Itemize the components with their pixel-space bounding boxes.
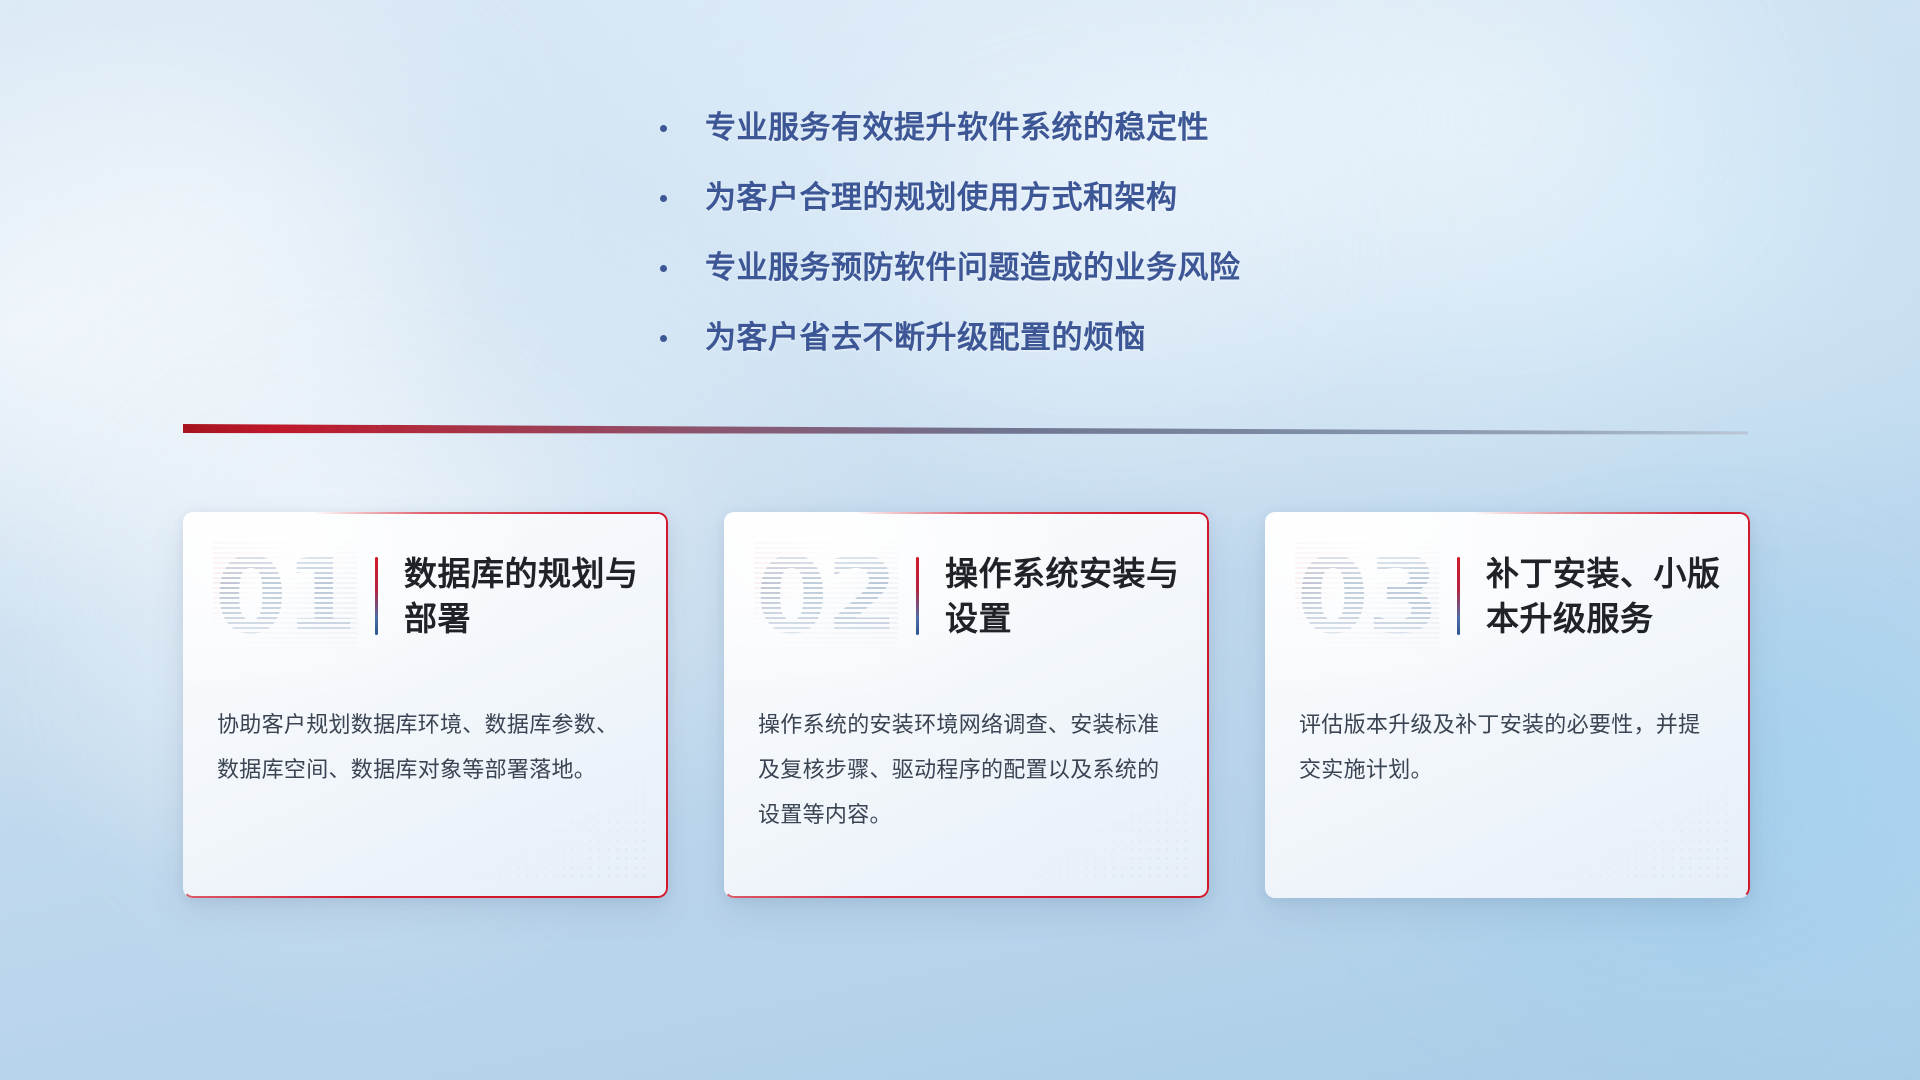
card-header: 01 数据库的规划与部署 bbox=[183, 512, 668, 680]
ghost-number: 01 bbox=[213, 542, 357, 650]
bullet-text: 为客户合理的规划使用方式和架构 bbox=[705, 178, 1420, 218]
bullet-dot-icon bbox=[660, 265, 667, 272]
bullet-list: 专业服务有效提升软件系统的稳定性 为客户合理的规划使用方式和架构 专业服务预防软… bbox=[660, 108, 1420, 358]
card-header: 03 补丁安装、小版本升级服务 bbox=[1265, 512, 1750, 680]
service-card-01[interactable]: 01 数据库的规划与部署 协助客户规划数据库环境、数据库参数、数据库空间、数据库… bbox=[183, 512, 668, 898]
list-item: 专业服务有效提升软件系统的稳定性 bbox=[660, 108, 1420, 148]
title-rule-divider bbox=[916, 557, 919, 635]
ghost-number-text: 02 bbox=[754, 542, 898, 650]
list-item: 为客户合理的规划使用方式和架构 bbox=[660, 178, 1420, 218]
ghost-number-text: 01 bbox=[213, 542, 357, 650]
bullet-dot-icon bbox=[660, 195, 667, 202]
card-body-text: 操作系统的安装环境网络调查、安装标准及复核步骤、驱动程序的配置以及系统的设置等内… bbox=[724, 680, 1209, 837]
bullet-text: 专业服务有效提升软件系统的稳定性 bbox=[705, 108, 1420, 148]
list-item: 为客户省去不断升级配置的烦恼 bbox=[660, 318, 1420, 358]
title-rule-divider bbox=[1457, 557, 1460, 635]
card-title: 补丁安装、小版本升级服务 bbox=[1486, 551, 1750, 641]
bullet-dot-icon bbox=[660, 335, 667, 342]
bullet-text: 专业服务预防软件问题造成的业务风险 bbox=[705, 248, 1420, 288]
service-card-02[interactable]: 02 操作系统安装与设置 操作系统的安装环境网络调查、安装标准及复核步骤、驱动程… bbox=[724, 512, 1209, 898]
ghost-number: 03 bbox=[1295, 542, 1439, 650]
bullet-text: 为客户省去不断升级配置的烦恼 bbox=[705, 318, 1420, 358]
card-body-text: 协助客户规划数据库环境、数据库参数、数据库空间、数据库对象等部署落地。 bbox=[183, 680, 668, 792]
bullet-dot-icon bbox=[660, 125, 667, 132]
divider bbox=[183, 422, 1748, 440]
card-body-text: 评估版本升级及补丁安装的必要性，并提交实施计划。 bbox=[1265, 680, 1750, 792]
divider-shape-icon bbox=[183, 422, 1748, 440]
card-title: 数据库的规划与部署 bbox=[404, 551, 668, 641]
ghost-number: 02 bbox=[754, 542, 898, 650]
list-item: 专业服务预防软件问题造成的业务风险 bbox=[660, 248, 1420, 288]
card-group: 01 数据库的规划与部署 协助客户规划数据库环境、数据库参数、数据库空间、数据库… bbox=[183, 512, 1750, 898]
slide-canvas: 专业服务有效提升软件系统的稳定性 为客户合理的规划使用方式和架构 专业服务预防软… bbox=[0, 0, 1920, 1080]
card-header: 02 操作系统安装与设置 bbox=[724, 512, 1209, 680]
service-card-03[interactable]: 03 补丁安装、小版本升级服务 评估版本升级及补丁安装的必要性，并提交实施计划。 bbox=[1265, 512, 1750, 898]
ghost-number-text: 03 bbox=[1295, 542, 1439, 650]
card-title: 操作系统安装与设置 bbox=[945, 551, 1209, 641]
title-rule-divider bbox=[375, 557, 378, 635]
